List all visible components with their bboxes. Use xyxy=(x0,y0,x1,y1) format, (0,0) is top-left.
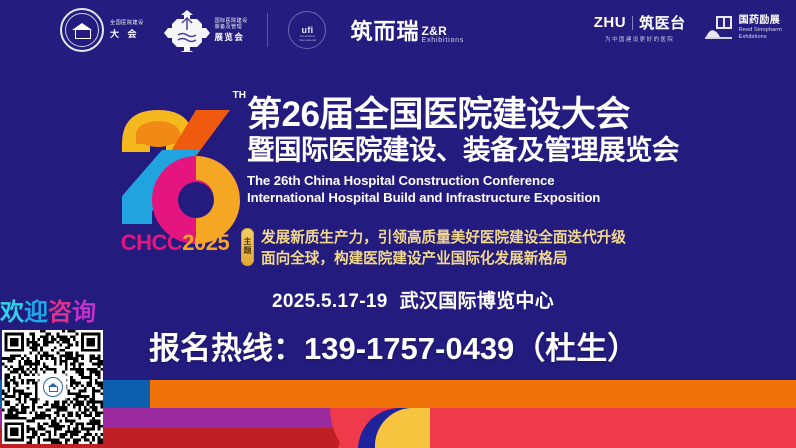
event-dateline: 2025.5.17-19武汉国际博览中心 xyxy=(272,286,554,313)
hotline-phone: 139-1757-0439 xyxy=(304,331,514,366)
welcome-text: 欢迎咨询 xyxy=(0,298,104,328)
reed-sinopharm-logo: 国药励展 Reed Sinopharm Exhibitions xyxy=(704,15,782,41)
ufi-sub2: International xyxy=(289,39,325,43)
bottom-color-bands xyxy=(0,364,796,448)
welcome-char-1: 欢 xyxy=(0,299,24,326)
znr-cn: 筑而瑞 xyxy=(350,14,419,46)
ufi-logo: ufi Association International xyxy=(288,11,326,49)
theme-block: 主 题 发展新质生产力，引领高质量美好医院建设全面迭代升级 面向全球，构建医院建… xyxy=(241,228,626,269)
title-en-line1: The 26th China Hospital Construction Con… xyxy=(247,172,717,189)
title-main-cn: 第26届全国医院建设大会 xyxy=(247,96,717,134)
zhu-cn: 筑医台 xyxy=(639,12,686,33)
hotline-label: 报名热线： xyxy=(149,331,304,366)
hotline-contact: （杜生） xyxy=(514,331,638,366)
qr-panel[interactable]: 欢迎咨询 xyxy=(0,296,104,448)
seal-logo-line2: 大 会 xyxy=(110,29,144,39)
seal-logo-line1: 全国医院建设 xyxy=(110,21,144,27)
chcc-wordmark: CHCC2025 xyxy=(100,230,250,256)
reed-cn: 国药励展 xyxy=(739,15,782,27)
title-block: 第26届全国医院建设大会 暨国际医院建设、装备及管理展览会 The 26th C… xyxy=(247,96,717,206)
header-bar: 全国医院建设 大 会 xyxy=(0,0,796,66)
expo-logo-line2: 装备及管理 xyxy=(215,24,248,31)
event-date: 2025.5.17-19 xyxy=(272,291,388,312)
zhu-tagline: 为中国建设更好的医院 xyxy=(605,35,674,43)
hotline-text: 报名热线：139-1757-0439（杜生） xyxy=(149,323,638,368)
reed-en1: Reed Sinopharm xyxy=(739,27,782,34)
znr-logo: 筑而瑞 Z&R Exhibitions xyxy=(350,14,464,46)
flower-icon xyxy=(164,8,210,52)
header-right-logos: ZHU 筑医台 为中国建设更好的医院 xyxy=(594,12,782,43)
znr-en-top: Z&R xyxy=(421,25,464,37)
qr-code[interactable] xyxy=(2,330,103,444)
logo-26-superscript: TH xyxy=(233,90,246,101)
theme-badge: 主 题 xyxy=(241,228,254,266)
zhu-logo: ZHU 筑医台 为中国建设更好的医院 xyxy=(594,12,686,43)
chcc-seal-logo: 全国医院建设 大 会 xyxy=(60,8,144,52)
znr-en-bottom: Exhibitions xyxy=(421,37,464,44)
event-venue: 武汉国际博览中心 xyxy=(400,291,554,312)
theme-line2: 面向全球，构建医院建设产业国际化发展新格局 xyxy=(261,249,626,270)
reed-en2: Exhibitions xyxy=(739,34,782,41)
chcc-letters: CHCC xyxy=(121,230,183,255)
reed-mark-icon xyxy=(704,15,734,41)
title-en-line2: International Hospital Build and Infrast… xyxy=(247,189,717,206)
title-sub-cn: 暨国际医院建设、装备及管理展览会 xyxy=(247,135,717,166)
welcome-char-4: 询 xyxy=(72,299,96,326)
seal-icon xyxy=(60,8,104,52)
chcc-year: 2025 xyxy=(182,230,229,255)
theme-line1: 发展新质生产力，引领高质量美好医院建设全面迭代升级 xyxy=(261,228,626,249)
poster-root: 全国医院建设 大 会 xyxy=(0,0,796,448)
welcome-char-3: 咨 xyxy=(48,299,72,326)
header-divider xyxy=(267,13,268,47)
theme-badge-char2: 题 xyxy=(244,247,252,256)
header-left-logos: 全国医院建设 大 会 xyxy=(60,8,464,52)
welcome-char-2: 迎 xyxy=(24,299,48,326)
qr-center-logo xyxy=(40,374,66,400)
expo-flower-logo: 国际医院建设 装备及管理 展览会 xyxy=(164,8,248,52)
zhu-mark: ZHU xyxy=(594,14,626,31)
expo-logo-line3: 展览会 xyxy=(215,32,248,43)
